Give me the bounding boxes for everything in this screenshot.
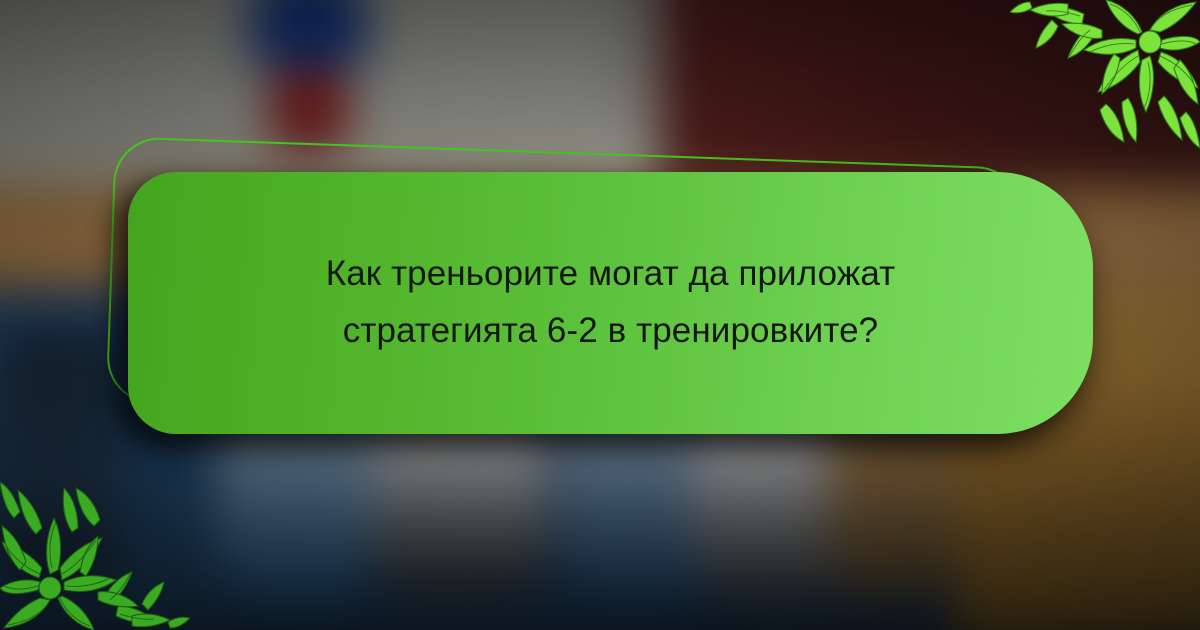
headline-text: Как треньорите могат да приложат стратег…	[196, 246, 1026, 359]
headline-card: Как треньорите могат да приложат стратег…	[128, 172, 1093, 434]
poster-canvas: Как треньорите могат да приложат стратег…	[0, 0, 1200, 630]
